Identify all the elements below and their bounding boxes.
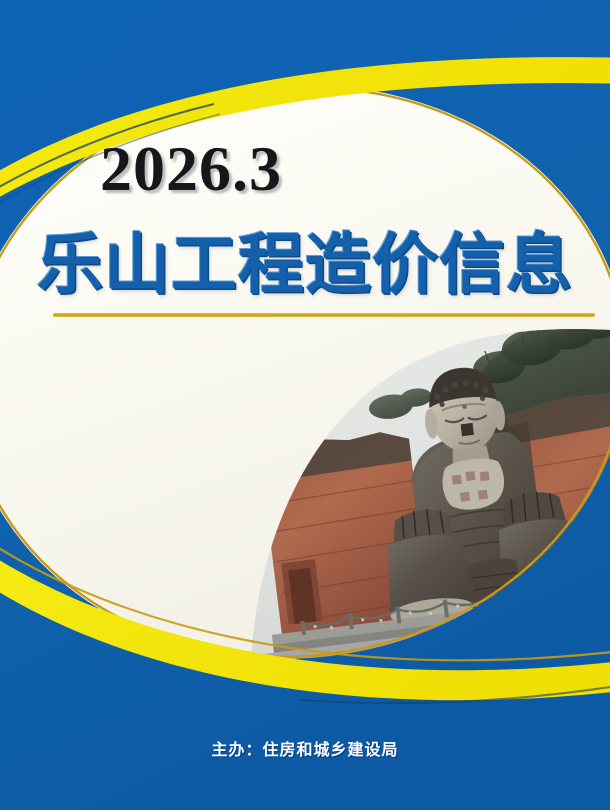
sponsor-line: 主办：住房和城乡建设局 [0, 739, 610, 761]
magazine-cover: 2026.3 乐山工程造价信息 主办：住房和城乡建设局 [0, 0, 610, 810]
page-title: 乐山工程造价信息 [0, 228, 610, 302]
cover-artwork [0, 0, 610, 810]
title-underline-rule [53, 313, 595, 317]
issue-date: 2026.3 [0, 137, 496, 201]
